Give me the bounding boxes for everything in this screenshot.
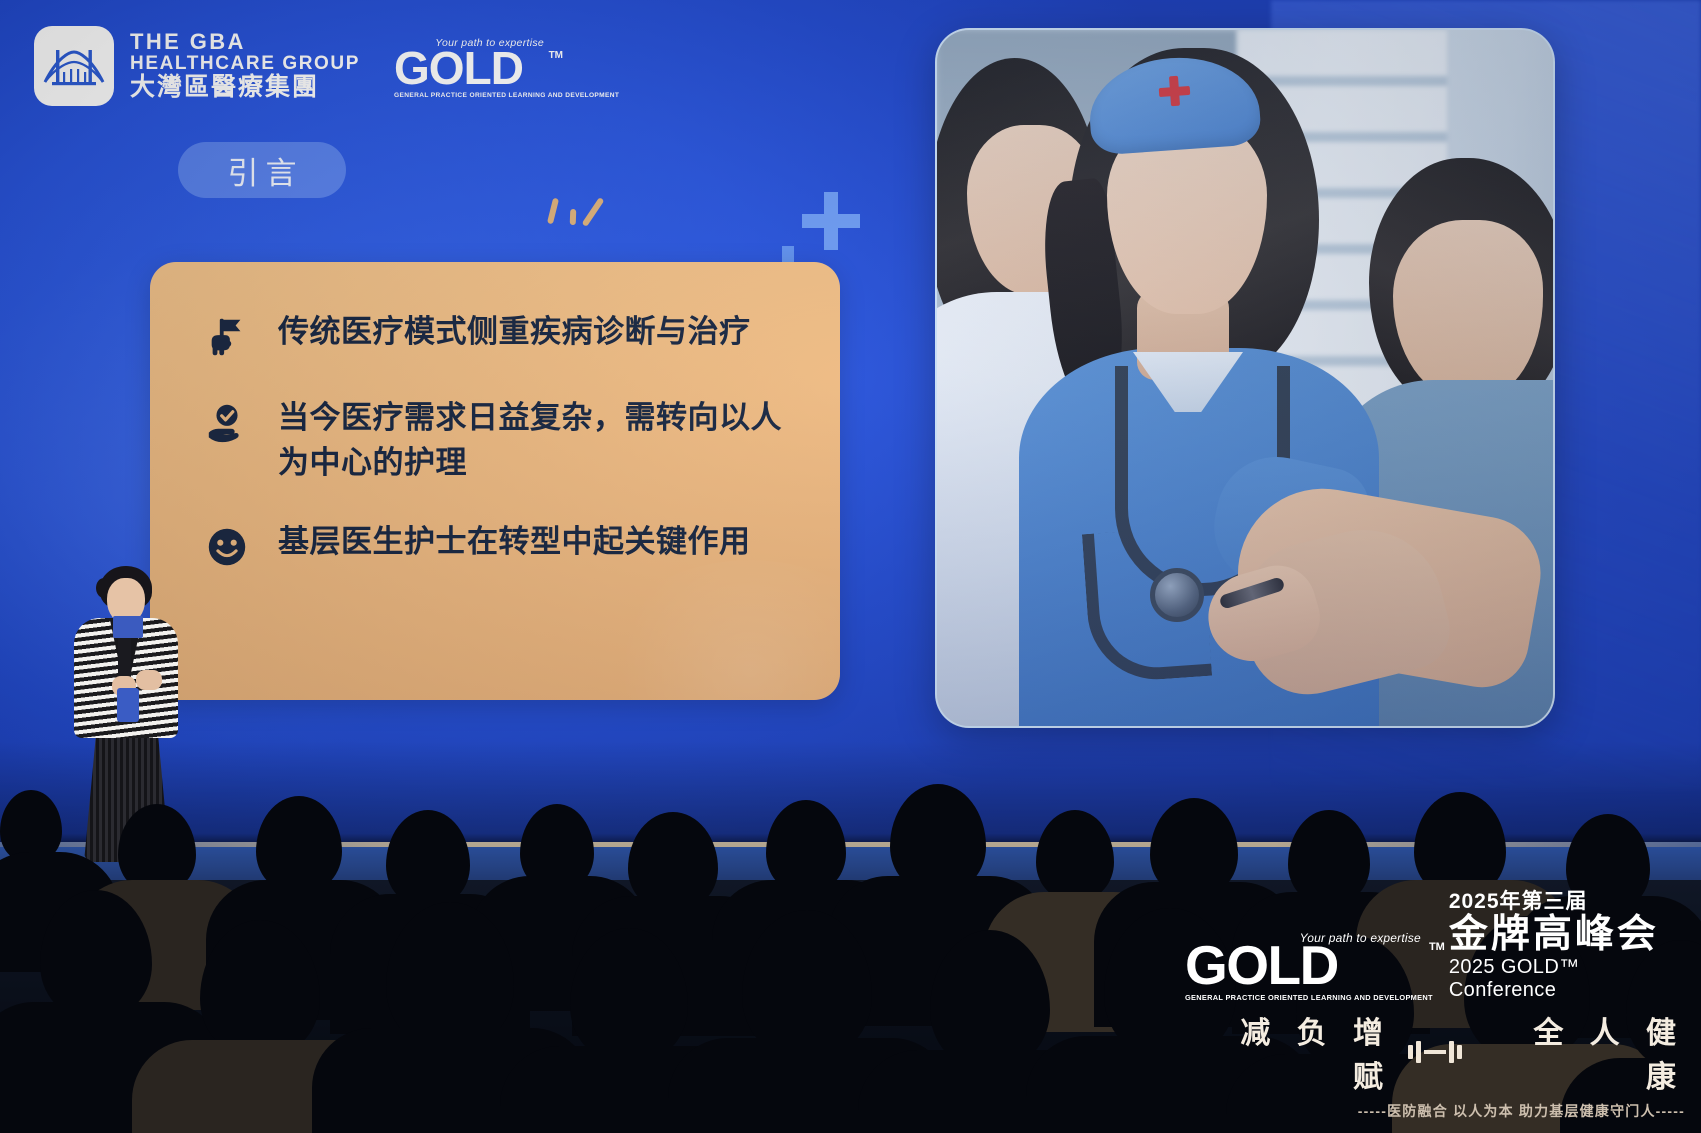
conference-footer-line: -----医防融合 以人为本 助力基层健康守门人-----: [1185, 1101, 1685, 1121]
conference-photo-scene: THE GBA HEALTHCARE GROUP 大灣區醫療集團 Your pa…: [0, 0, 1701, 1133]
conference-gold-logo: Your path to expertise GOLD TM GENERAL P…: [1185, 931, 1433, 1003]
medical-plus-icon-large: [824, 192, 838, 250]
conference-title-cn: 金牌高峰会: [1449, 915, 1685, 956]
gba-logo-line2: HEALTHCARE GROUP: [130, 54, 360, 73]
hand-flag-icon: [202, 312, 252, 362]
conference-title-en: 2025 GOLD™ Conference: [1449, 956, 1685, 1002]
conference-gold-word: GOLD TM: [1185, 941, 1433, 991]
audience-head: [256, 796, 342, 892]
tan-dashes-decoration: [548, 196, 618, 230]
audience-head: [118, 804, 196, 892]
projection-screen: THE GBA HEALTHCARE GROUP 大灣區醫療集團 Your pa…: [0, 0, 1701, 842]
conference-gold-word-text: GOLD: [1185, 934, 1338, 996]
gba-healthcare-logo: THE GBA HEALTHCARE GROUP 大灣區醫療集團: [34, 26, 360, 106]
gba-logo-line3: 大灣區醫療集團: [130, 75, 360, 101]
conference-title-block: 2025年第三届 金牌高峰会 2025 GOLD™ Conference: [1449, 885, 1685, 1002]
conference-slogan-right: 全 人 健 康: [1478, 1008, 1685, 1096]
bullet-text: 当今医疗需求日益复杂，需转向以人为中心的护理: [278, 396, 796, 486]
audience-head: [1036, 810, 1114, 900]
nurse-consulting-patients-photo: [935, 28, 1555, 728]
conference-branding: Your path to expertise GOLD TM GENERAL P…: [1185, 885, 1685, 1121]
bridge-icon: [34, 26, 114, 106]
microphone-flag: [113, 616, 143, 638]
photo-inner: [937, 30, 1553, 726]
gold-program-logo: Your path to expertise GOLD TM GENERAL P…: [394, 33, 554, 98]
gba-logo-line1: THE GBA: [130, 31, 360, 53]
bullet-item: 当今医疗需求日益复杂，需转向以人为中心的护理: [202, 396, 796, 486]
bullet-text: 传统医疗模式侧重疾病诊断与治疗: [278, 310, 751, 355]
slide-logo-bar: THE GBA HEALTHCARE GROUP 大灣區醫療集團 Your pa…: [34, 26, 554, 106]
dash-2: [570, 209, 577, 225]
dumbbell-icon: [1408, 1041, 1462, 1063]
dash-3: [582, 197, 605, 227]
presenter-lanyard-badge: [117, 688, 139, 722]
presenter-hand-right: [136, 670, 162, 690]
bullet-card: 传统医疗模式侧重疾病诊断与治疗 当今医疗需求日益复杂，需转向以人为中心的护理: [150, 262, 840, 700]
section-badge-label: 引言: [221, 148, 304, 193]
audience-head: [766, 800, 846, 892]
conference-branding-top: Your path to expertise GOLD TM GENERAL P…: [1185, 885, 1685, 1002]
bullet-text: 基层医生护士在转型中起关键作用: [278, 520, 751, 565]
conference-year-line: 2025年第三届: [1449, 885, 1685, 915]
gba-logo-wordmark: THE GBA HEALTHCARE GROUP 大灣區醫療集團: [130, 31, 360, 100]
gold-logo-word-text: GOLD: [394, 42, 523, 94]
conference-slogan-left: 减 负 增 赋: [1185, 1008, 1392, 1096]
hand-check-icon: [202, 398, 252, 448]
stethoscope-bell: [1150, 568, 1204, 622]
gold-logo-word: GOLD TM: [394, 47, 554, 89]
conference-gold-tm: TM: [1429, 943, 1445, 953]
smiley-face-icon: [202, 522, 252, 572]
conference-slogan: 减 负 增 赋 全 人 健 康: [1185, 1008, 1685, 1096]
bullet-item: 传统医疗模式侧重疾病诊断与治疗: [202, 310, 796, 362]
audience-head: [386, 810, 470, 906]
dash-1: [547, 198, 559, 225]
section-badge: 引言: [178, 142, 346, 198]
bullet-item: 基层医生护士在转型中起关键作用: [202, 520, 796, 572]
gold-logo-tm: TM: [549, 51, 563, 60]
